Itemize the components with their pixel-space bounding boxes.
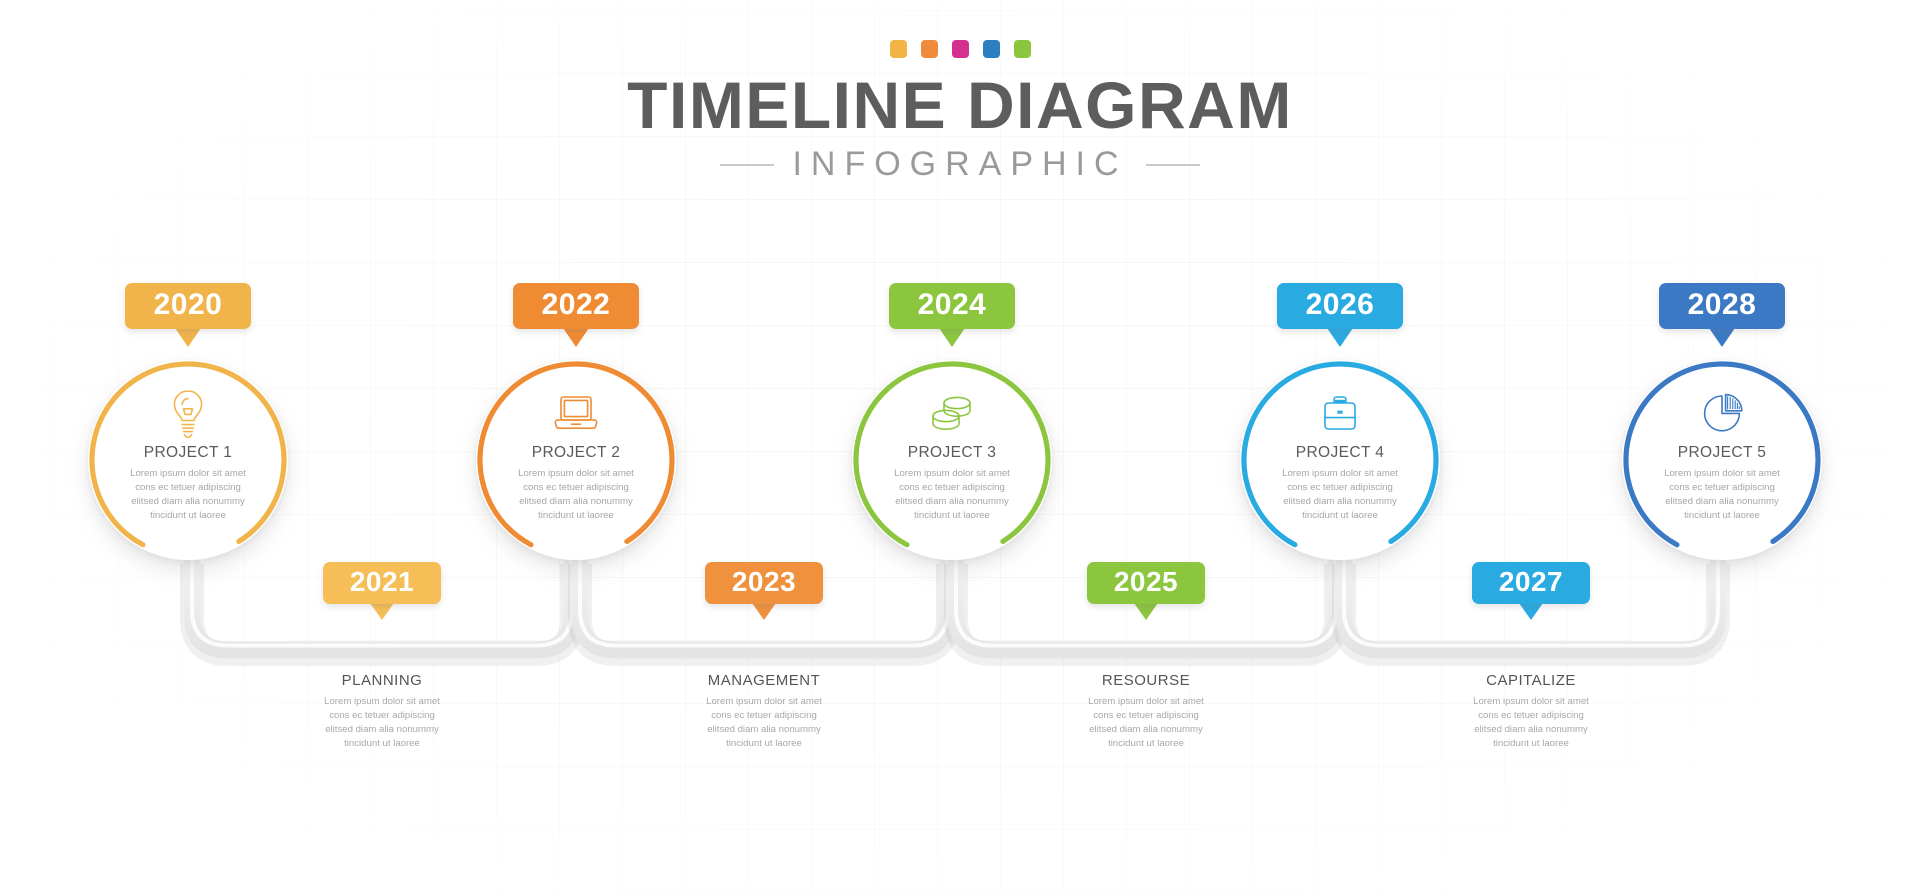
node-description-line: cons ec tetuer adipiscing	[497, 481, 655, 495]
node-description: Lorem ipsum dolor sit ametcons ec tetuer…	[497, 467, 655, 523]
badge-pointer-icon	[370, 603, 394, 620]
stage-description-line: tincidunt ut laoree	[1416, 737, 1646, 751]
year-label: 2021	[323, 562, 441, 604]
badge-pointer-icon	[563, 328, 589, 347]
dot-magenta	[952, 40, 969, 58]
dot-orange	[921, 40, 938, 58]
stage-description-line: cons ec tetuer adipiscing	[1031, 709, 1261, 723]
badge-pointer-icon	[1709, 328, 1735, 347]
node-title: PROJECT 5	[1678, 444, 1767, 462]
node-description-line: tincidunt ut laoree	[1261, 509, 1419, 523]
stage-title: MANAGEMENT	[649, 672, 879, 689]
stage-label-planning: PLANNINGLorem ipsum dolor sit ametcons e…	[267, 672, 497, 751]
stage-description-line: Lorem ipsum dolor sit amet	[1416, 695, 1646, 709]
stage-description-line: cons ec tetuer adipiscing	[1416, 709, 1646, 723]
year-label: 2028	[1659, 283, 1785, 329]
stage-description-line: elitsed diam alia nonummy	[1416, 723, 1646, 737]
project-node-2[interactable]: PROJECT 2Lorem ipsum dolor sit ametcons …	[471, 355, 681, 565]
dot-blue	[983, 40, 1000, 58]
node-description-line: elitsed diam alia nonummy	[1261, 495, 1419, 509]
stage-year-badge-2023[interactable]: 2023	[705, 562, 823, 621]
node-description: Lorem ipsum dolor sit ametcons ec tetuer…	[1261, 467, 1419, 523]
node-title: PROJECT 3	[908, 444, 997, 462]
stage-label-management: MANAGEMENTLorem ipsum dolor sit ametcons…	[649, 672, 879, 751]
node-description-line: Lorem ipsum dolor sit amet	[873, 467, 1031, 481]
dot-row	[0, 40, 1920, 58]
project-node-4[interactable]: PROJECT 4Lorem ipsum dolor sit ametcons …	[1235, 355, 1445, 565]
year-label: 2020	[125, 283, 251, 329]
node-description-line: Lorem ipsum dolor sit amet	[1643, 467, 1801, 481]
project-node-5[interactable]: PROJECT 5Lorem ipsum dolor sit ametcons …	[1617, 355, 1827, 565]
node-description-line: tincidunt ut laoree	[873, 509, 1031, 523]
node-content: PROJECT 4Lorem ipsum dolor sit ametcons …	[1240, 360, 1440, 560]
node-title: PROJECT 1	[144, 444, 233, 462]
node-year-badge-2022[interactable]: 2022	[513, 283, 639, 348]
stage-description-line: Lorem ipsum dolor sit amet	[649, 695, 879, 709]
badge-pointer-icon	[175, 328, 201, 347]
stage-title: CAPITALIZE	[1416, 672, 1646, 689]
year-label: 2024	[889, 283, 1015, 329]
stage-description-line: tincidunt ut laoree	[649, 737, 879, 751]
stage-year-badge-2025[interactable]: 2025	[1087, 562, 1205, 621]
project-node-1[interactable]: PROJECT 1Lorem ipsum dolor sit ametcons …	[83, 355, 293, 565]
laptop-icon	[549, 386, 603, 440]
stage-description-line: tincidunt ut laoree	[267, 737, 497, 751]
infographic-canvas: TIMELINE DIAGRAM INFOGRAPHIC PLANNINGLor…	[0, 0, 1920, 896]
year-label: 2027	[1472, 562, 1590, 604]
briefcase-icon	[1316, 386, 1364, 440]
stage-description: Lorem ipsum dolor sit ametcons ec tetuer…	[1416, 695, 1646, 751]
badge-pointer-icon	[1327, 328, 1353, 347]
stage-description-line: Lorem ipsum dolor sit amet	[267, 695, 497, 709]
node-content: PROJECT 1Lorem ipsum dolor sit ametcons …	[88, 360, 288, 560]
node-content: PROJECT 2Lorem ipsum dolor sit ametcons …	[476, 360, 676, 560]
stage-title: RESOURSE	[1031, 672, 1261, 689]
node-description-line: tincidunt ut laoree	[109, 509, 267, 523]
year-label: 2022	[513, 283, 639, 329]
node-title: PROJECT 2	[532, 444, 621, 462]
stage-title: PLANNING	[267, 672, 497, 689]
project-node-3[interactable]: PROJECT 3Lorem ipsum dolor sit ametcons …	[847, 355, 1057, 565]
stage-description-line: elitsed diam alia nonummy	[649, 723, 879, 737]
stage-description-line: elitsed diam alia nonummy	[267, 723, 497, 737]
node-description-line: Lorem ipsum dolor sit amet	[109, 467, 267, 481]
node-description-line: Lorem ipsum dolor sit amet	[1261, 467, 1419, 481]
node-description-line: tincidunt ut laoree	[497, 509, 655, 523]
node-description: Lorem ipsum dolor sit ametcons ec tetuer…	[109, 467, 267, 523]
node-description-line: cons ec tetuer adipiscing	[1261, 481, 1419, 495]
stage-description-line: cons ec tetuer adipiscing	[649, 709, 879, 723]
node-title: PROJECT 4	[1296, 444, 1385, 462]
stage-description-line: cons ec tetuer adipiscing	[267, 709, 497, 723]
node-year-badge-2024[interactable]: 2024	[889, 283, 1015, 348]
stage-description: Lorem ipsum dolor sit ametcons ec tetuer…	[649, 695, 879, 751]
year-label: 2023	[705, 562, 823, 604]
node-description-line: elitsed diam alia nonummy	[873, 495, 1031, 509]
stage-year-badge-2021[interactable]: 2021	[323, 562, 441, 621]
dot-amber	[890, 40, 907, 58]
pie-chart-icon	[1697, 386, 1747, 440]
stage-year-badge-2027[interactable]: 2027	[1472, 562, 1590, 621]
node-content: PROJECT 5Lorem ipsum dolor sit ametcons …	[1622, 360, 1822, 560]
node-description-line: cons ec tetuer adipiscing	[109, 481, 267, 495]
node-year-badge-2028[interactable]: 2028	[1659, 283, 1785, 348]
badge-pointer-icon	[1134, 603, 1158, 620]
dot-green	[1014, 40, 1031, 58]
year-label: 2026	[1277, 283, 1403, 329]
stage-description: Lorem ipsum dolor sit ametcons ec tetuer…	[267, 695, 497, 751]
stage-description: Lorem ipsum dolor sit ametcons ec tetuer…	[1031, 695, 1261, 751]
node-description: Lorem ipsum dolor sit ametcons ec tetuer…	[1643, 467, 1801, 523]
stage-description-line: tincidunt ut laoree	[1031, 737, 1261, 751]
badge-pointer-icon	[939, 328, 965, 347]
subtitle-rule-right	[1146, 164, 1200, 166]
node-description-line: elitsed diam alia nonummy	[1643, 495, 1801, 509]
stage-label-resourse: RESOURSELorem ipsum dolor sit ametcons e…	[1031, 672, 1261, 751]
subtitle-rule-left	[720, 164, 774, 166]
page-title: TIMELINE DIAGRAM	[0, 72, 1920, 139]
node-year-badge-2020[interactable]: 2020	[125, 283, 251, 348]
node-description-line: Lorem ipsum dolor sit amet	[497, 467, 655, 481]
node-content: PROJECT 3Lorem ipsum dolor sit ametcons …	[852, 360, 1052, 560]
node-description-line: cons ec tetuer adipiscing	[873, 481, 1031, 495]
node-description-line: cons ec tetuer adipiscing	[1643, 481, 1801, 495]
stage-description-line: elitsed diam alia nonummy	[1031, 723, 1261, 737]
page-subtitle: INFOGRAPHIC	[792, 145, 1127, 184]
stage-description-line: Lorem ipsum dolor sit amet	[1031, 695, 1261, 709]
year-label: 2025	[1087, 562, 1205, 604]
node-year-badge-2026[interactable]: 2026	[1277, 283, 1403, 348]
node-description-line: tincidunt ut laoree	[1643, 509, 1801, 523]
stage-label-capitalize: CAPITALIZELorem ipsum dolor sit ametcons…	[1416, 672, 1646, 751]
subtitle-row: INFOGRAPHIC	[0, 145, 1920, 184]
lightbulb-icon	[165, 386, 211, 440]
badge-pointer-icon	[752, 603, 776, 620]
header: TIMELINE DIAGRAM INFOGRAPHIC	[0, 40, 1920, 184]
badge-pointer-icon	[1519, 603, 1543, 620]
node-description-line: elitsed diam alia nonummy	[109, 495, 267, 509]
coins-icon	[924, 386, 980, 440]
node-description-line: elitsed diam alia nonummy	[497, 495, 655, 509]
node-description: Lorem ipsum dolor sit ametcons ec tetuer…	[873, 467, 1031, 523]
